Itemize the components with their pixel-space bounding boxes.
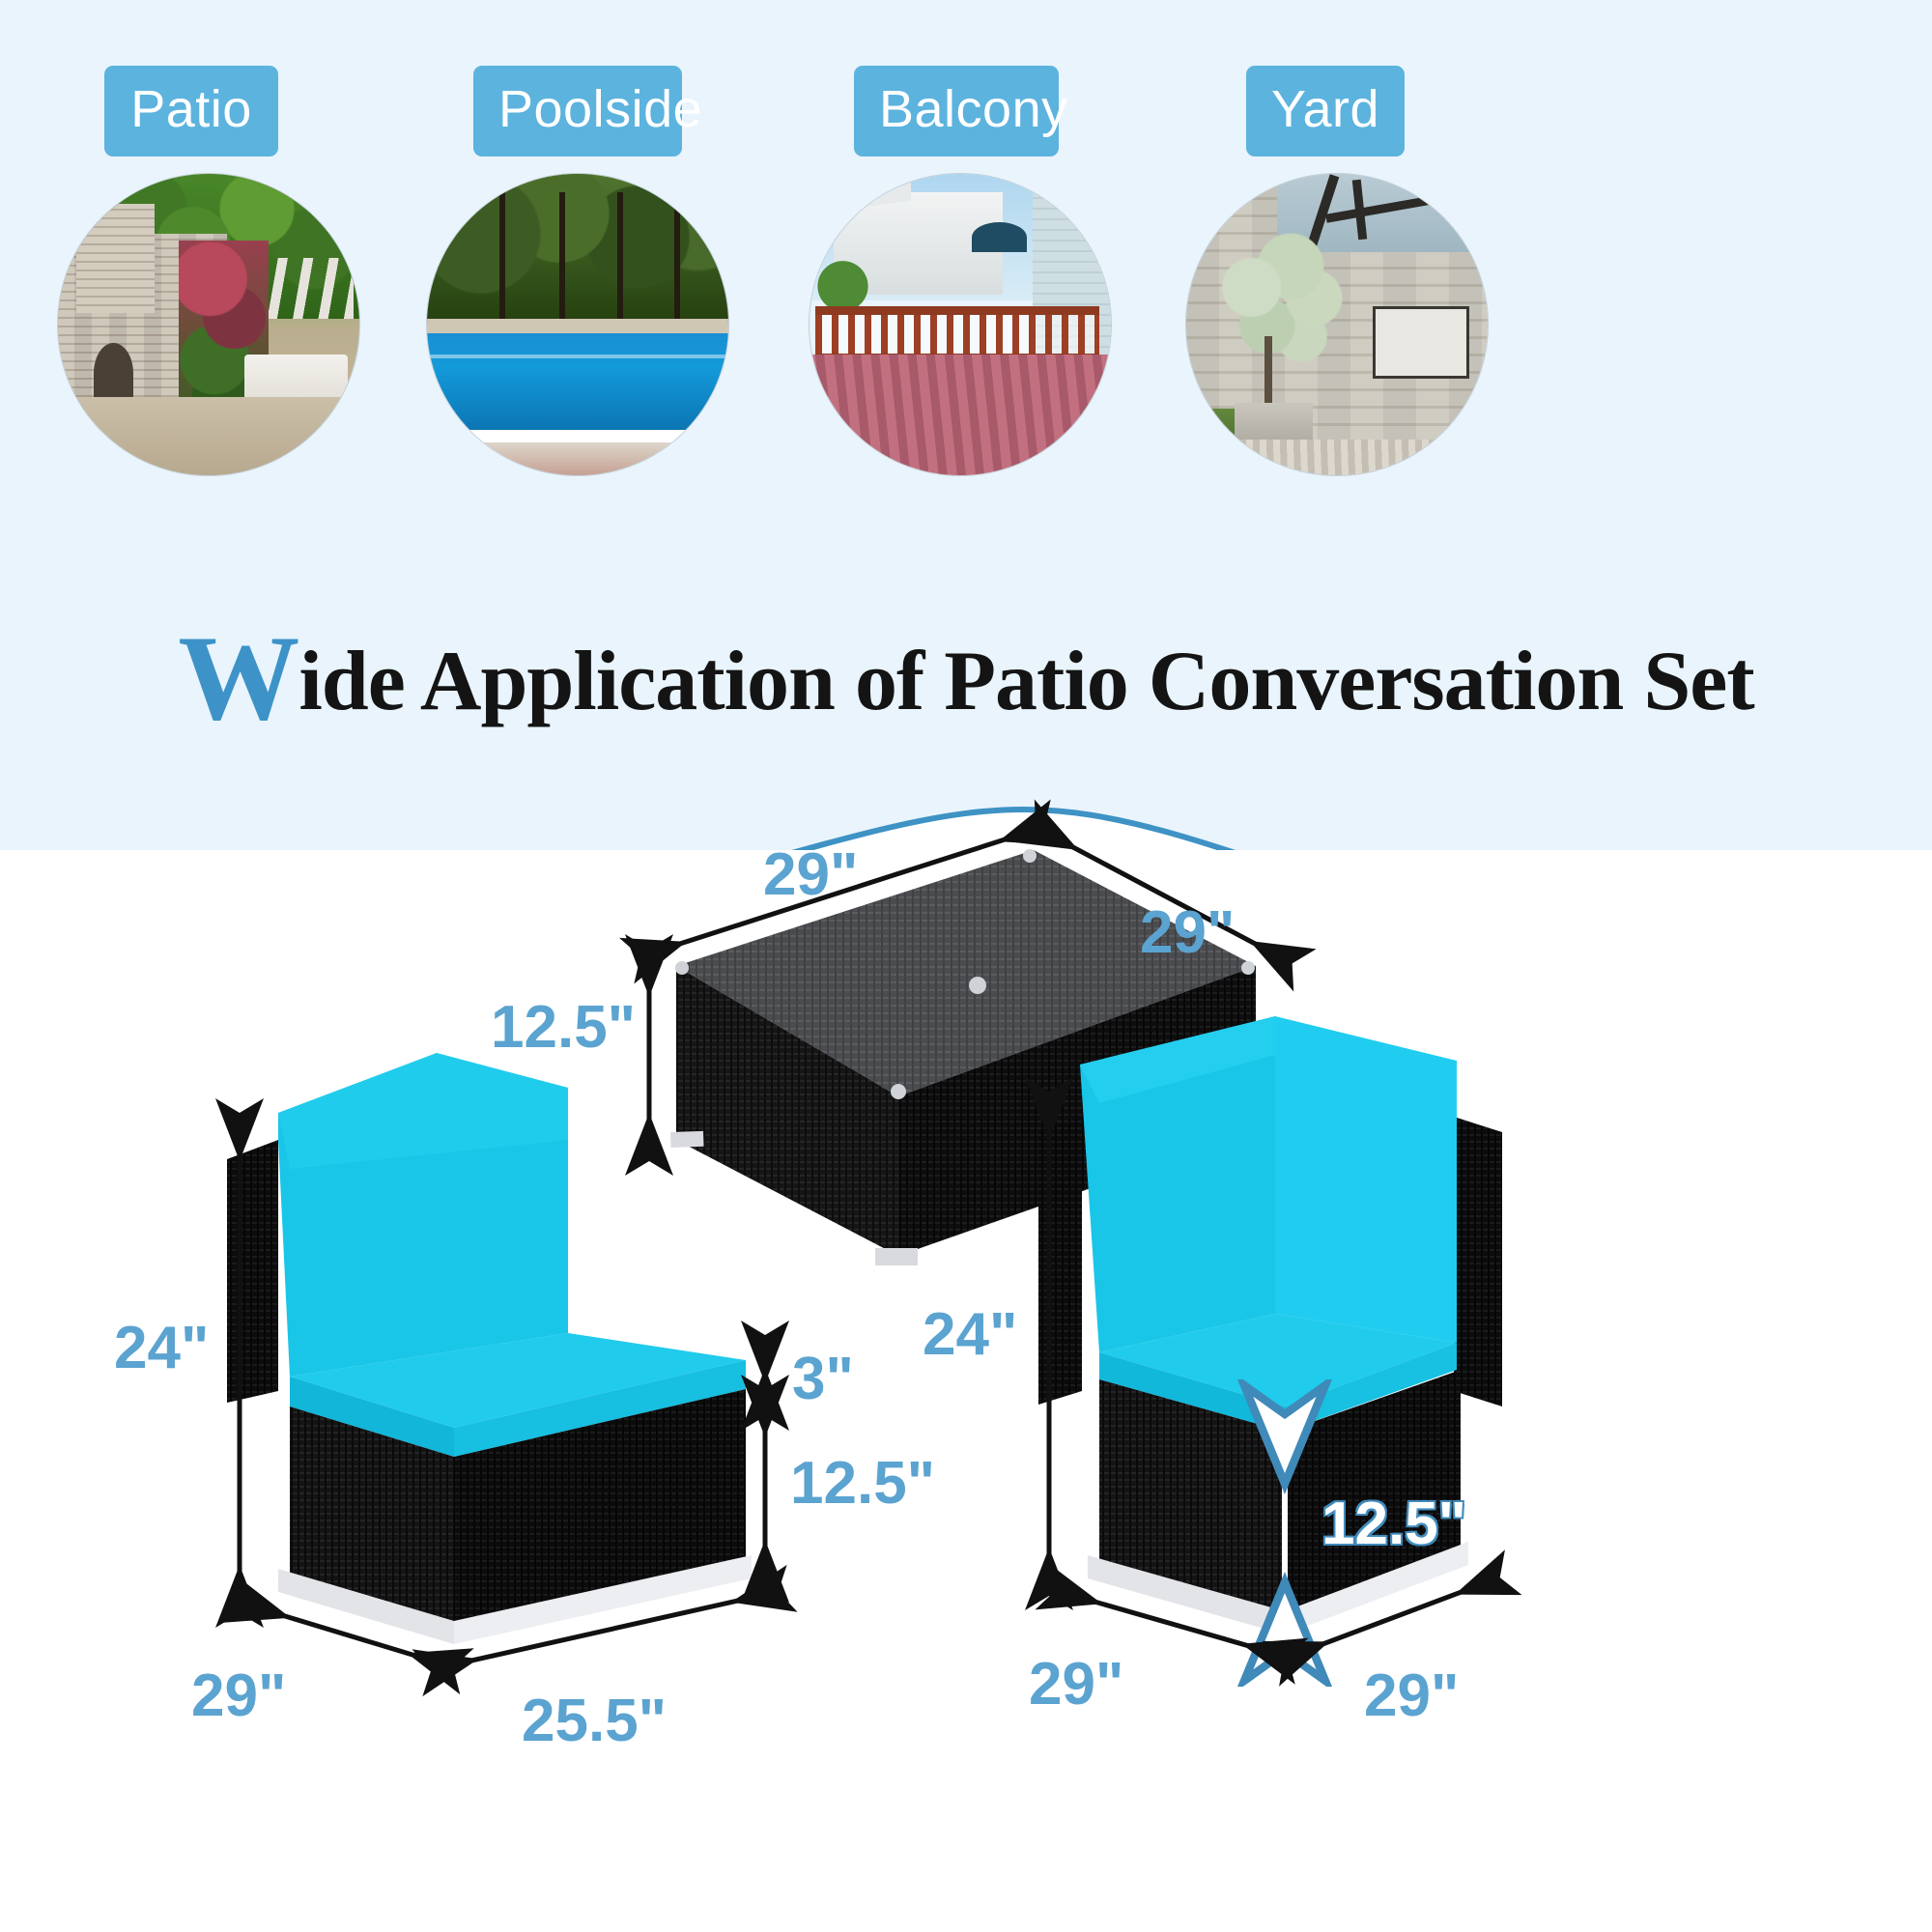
scene-image-yard <box>1186 174 1488 475</box>
wooden-deck-balcony-photo <box>810 174 1111 475</box>
corner-sofa-drawing <box>0 850 1932 1932</box>
page-title-rest: ide Application of Patio Conversation Se… <box>298 635 1753 728</box>
scene-image-poolside <box>427 174 728 475</box>
coffee-table-dim-width: 29" <box>763 840 858 909</box>
scene-image-patio <box>58 174 359 475</box>
scene-label-poolside: Poolside <box>473 66 682 156</box>
corner-sofa-dim-right-width: 29" <box>1364 1662 1459 1730</box>
scene-label-patio: Patio <box>104 66 278 156</box>
page-title-dropcap: W <box>178 611 298 746</box>
dimensions-panel: 29" 29" 12.5" <box>0 850 1932 1932</box>
coffee-table-drawing <box>0 850 1932 1932</box>
armless-sofa-dim-cushion: 3" <box>792 1345 854 1413</box>
armless-sofa-dim-back-height: 24" <box>114 1314 209 1382</box>
armless-sofa-drawing <box>0 850 1932 1932</box>
courtyard-tree-planter-photo <box>1186 174 1488 475</box>
scene-label-yard: Yard <box>1246 66 1405 156</box>
armless-sofa-dim-base-height: 12.5" <box>790 1449 935 1518</box>
stone-patio-fireplace-photo <box>58 174 359 475</box>
coffee-table-dim-height: 12.5" <box>491 993 636 1062</box>
armless-sofa-dim-depth: 29" <box>191 1662 286 1730</box>
scene-image-balcony <box>810 174 1111 475</box>
page-title: Wide Application of Patio Conversation S… <box>0 633 1932 730</box>
corner-sofa-dim-left-width: 29" <box>1029 1650 1123 1719</box>
corner-sofa-dim-back-height: 24" <box>923 1300 1017 1369</box>
corner-sofa-dim-base-height: 12.5" <box>1321 1490 1466 1558</box>
scene-label-balcony: Balcony <box>854 66 1059 156</box>
coffee-table-dim-depth: 29" <box>1140 898 1235 967</box>
swimming-pool-photo <box>427 174 728 475</box>
armless-sofa-dim-width: 25.5" <box>522 1687 667 1755</box>
